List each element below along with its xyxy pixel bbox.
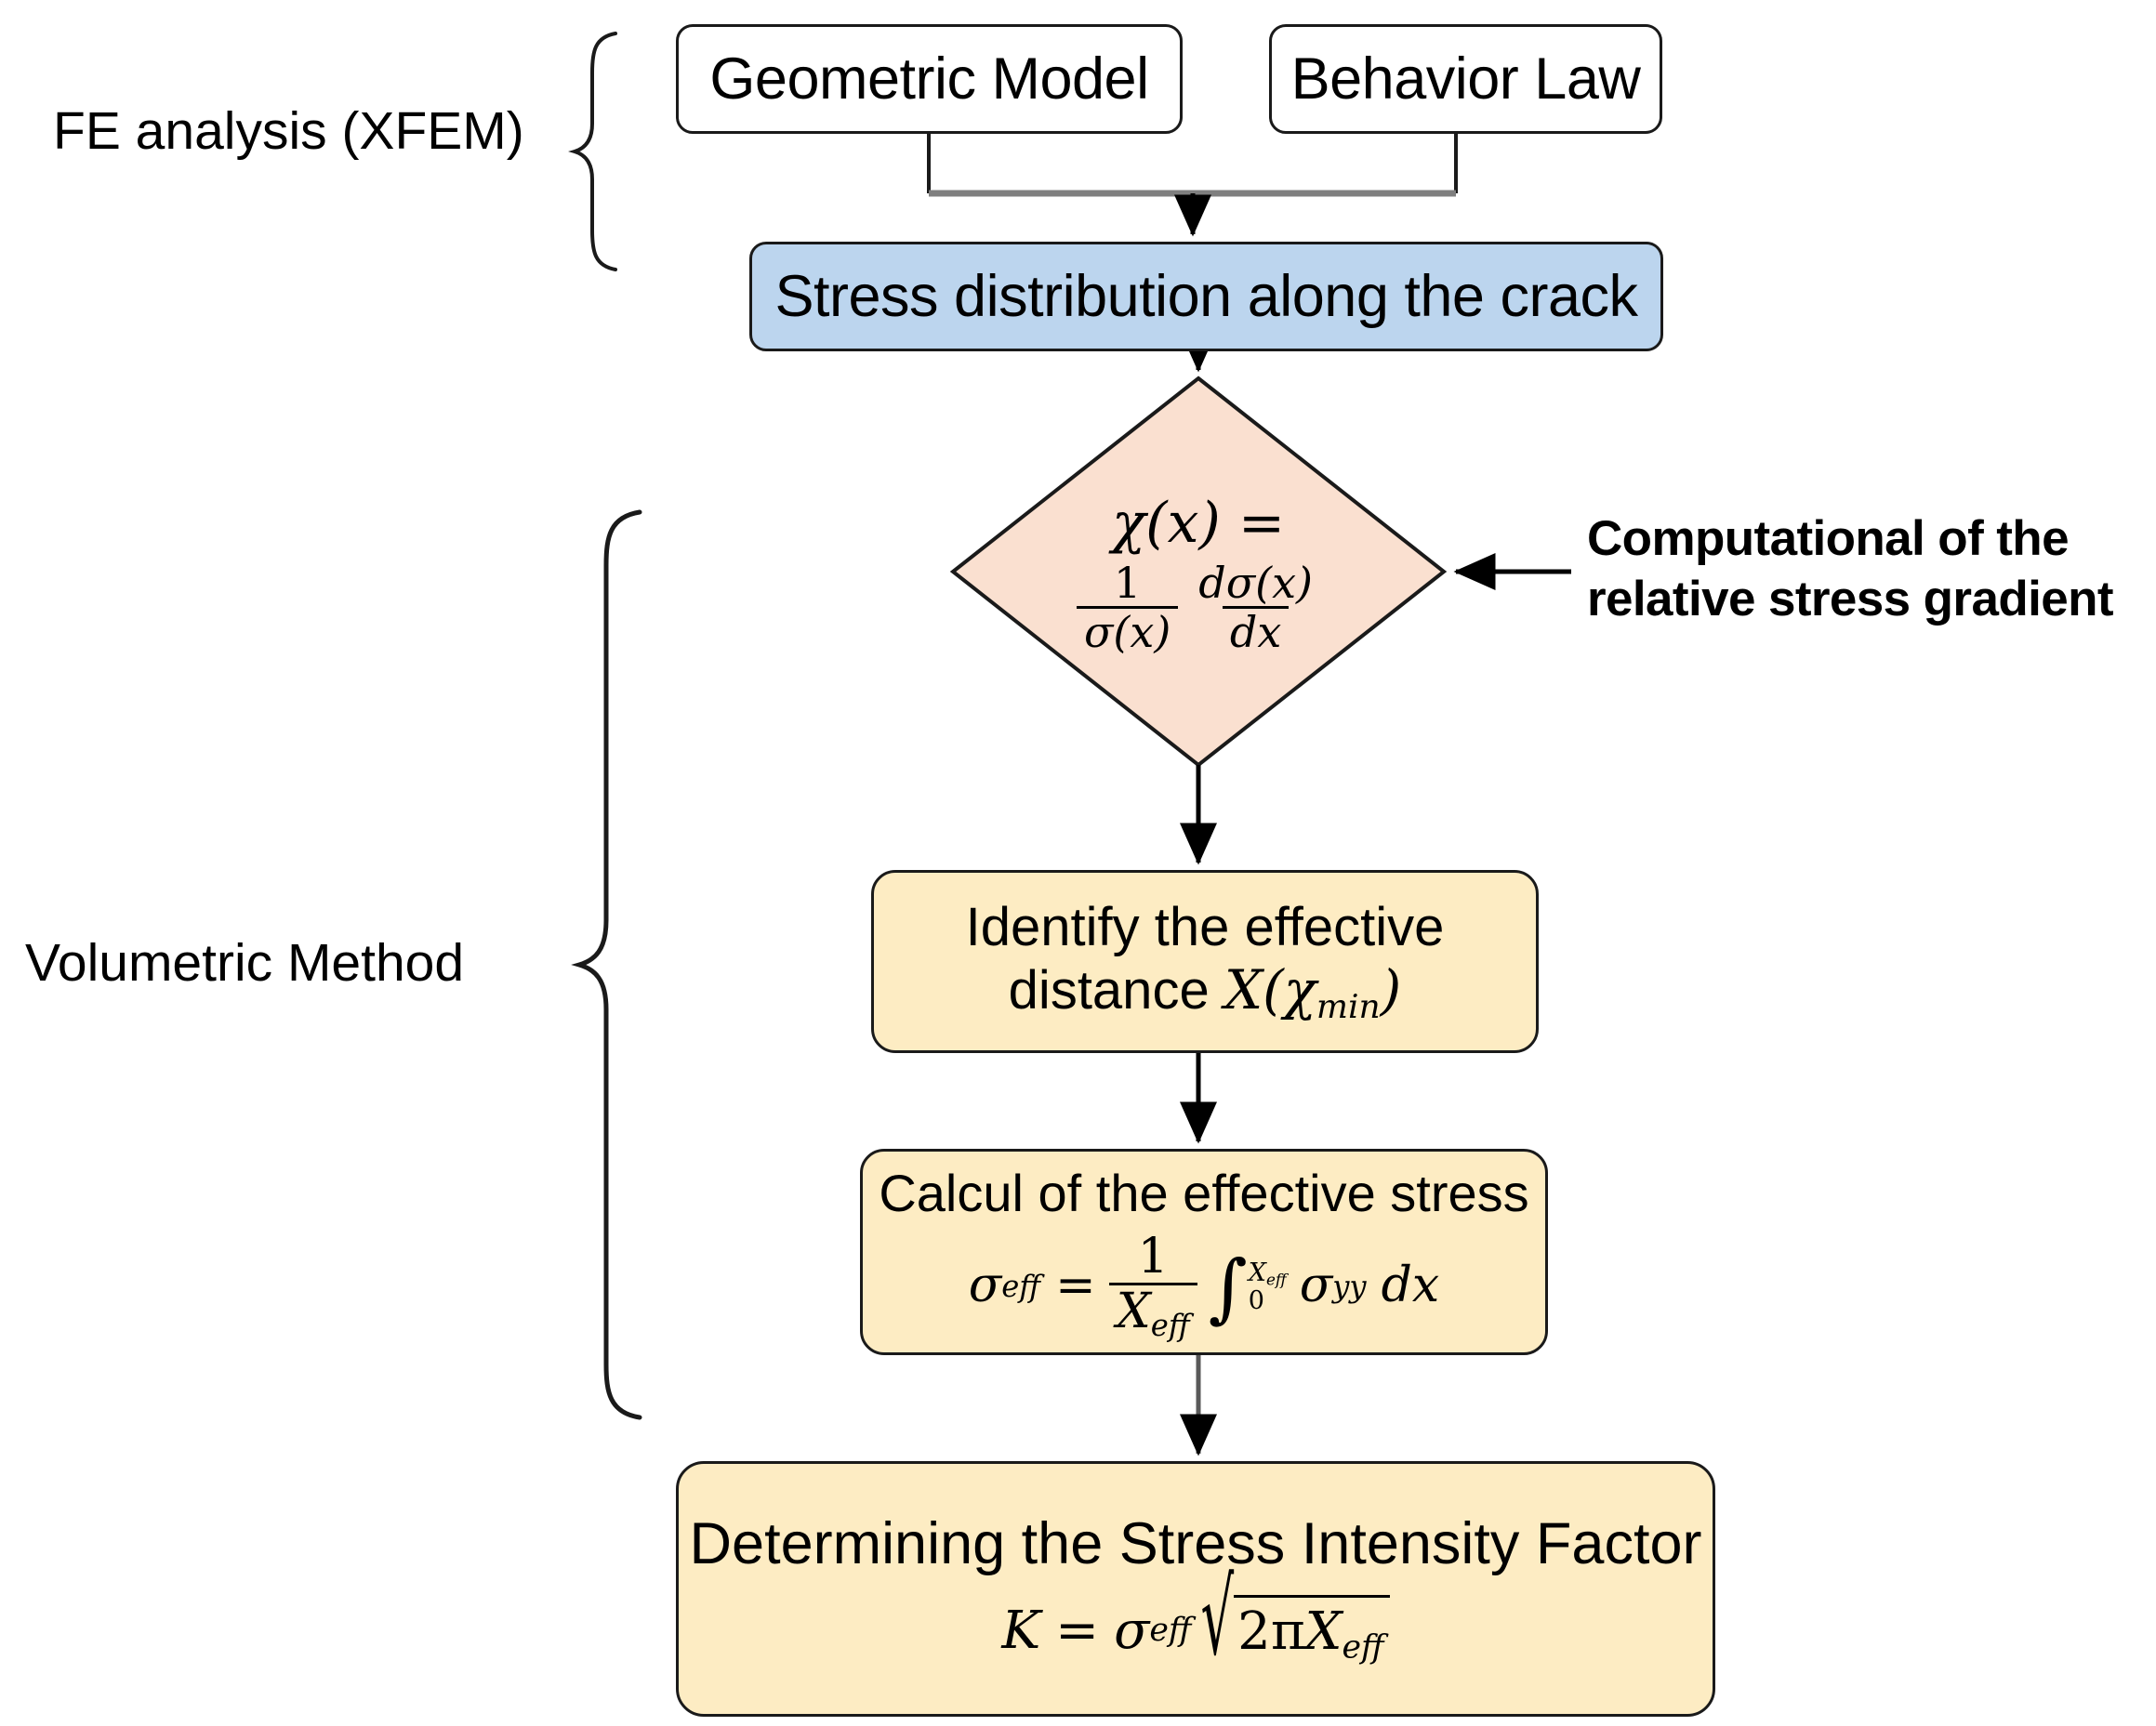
node-identify-line1: Identify the effective xyxy=(966,897,1445,959)
sif-sigma-sub: eff xyxy=(1149,1613,1191,1650)
node-determine-sif-title: Determining the Stress Intensity Factor xyxy=(690,1510,1702,1577)
decision-frac2-den: dx xyxy=(1223,606,1289,653)
decision-equation-rhs: 1 σ(x) dσ(x) dx xyxy=(1077,561,1320,653)
sif-radicand-two: 2 xyxy=(1237,1601,1271,1662)
node-identify-line2-prefix: distance xyxy=(1009,960,1224,1021)
node-stress-distribution[interactable]: Stress distribution along the crack xyxy=(749,242,1663,351)
node-identify-chi: χ xyxy=(1284,958,1316,1021)
calcul-sigma: σ xyxy=(969,1258,1002,1314)
calcul-frac-den: Xeff xyxy=(1109,1283,1197,1340)
calcul-frac-den-sub: eff xyxy=(1151,1308,1190,1343)
decision-frac-one-over-sigma: 1 σ(x) xyxy=(1077,561,1178,653)
decision-frac1-num: 1 xyxy=(1106,561,1148,606)
node-identify-line2: distance X(χmin) xyxy=(1009,959,1402,1026)
calcul-int-upper-base: X xyxy=(1249,1258,1266,1287)
sif-radicand-pi: π xyxy=(1271,1601,1305,1662)
annotation-computational-gradient: Computational of the relative stress gra… xyxy=(1587,509,2145,629)
calcul-int-upper: Xeff xyxy=(1249,1260,1287,1287)
node-identify-X: X xyxy=(1224,958,1263,1021)
calcul-frac-num: 1 xyxy=(1131,1232,1176,1283)
calcul-frac-one-over-xeff: 1 Xeff xyxy=(1109,1232,1197,1340)
label-fe-analysis: FE analysis (XFEM) xyxy=(53,100,524,162)
decision-frac-dsigma-dx: dσ(x) dx xyxy=(1191,561,1320,653)
node-behavior-law[interactable]: Behavior Law xyxy=(1269,24,1662,134)
calcul-int-upper-sub: eff xyxy=(1266,1270,1287,1288)
sif-sqrt: √ 2πXeff xyxy=(1200,1595,1389,1667)
flowchart-canvas: FE analysis (XFEM) Volumetric Method Com… xyxy=(0,0,2156,1726)
sif-radicand-X: X xyxy=(1305,1601,1343,1662)
calcul-integral-sign: ∫ xyxy=(1209,1258,1248,1318)
sif-radicand-sub: eff xyxy=(1343,1629,1384,1667)
calcul-equals: = xyxy=(1055,1258,1096,1314)
calcul-integrand-sub: yy xyxy=(1332,1270,1366,1304)
sif-K: K xyxy=(1001,1601,1040,1661)
calcul-int-lower: 0 xyxy=(1249,1288,1287,1313)
calcul-differential: dx xyxy=(1382,1258,1440,1314)
brace-volumetric-method xyxy=(579,512,640,1417)
node-identify-paren-close: ) xyxy=(1381,958,1402,1021)
calcul-integral-limits: Xeff 0 xyxy=(1248,1260,1287,1313)
annotation-line-2: relative stress gradient xyxy=(1587,570,2145,630)
decision-frac2-num: dσ(x) xyxy=(1191,561,1320,606)
node-determine-sif[interactable]: Determining the Stress Intensity Factor … xyxy=(676,1461,1715,1717)
node-stress-distribution-label: Stress distribution along the crack xyxy=(775,263,1638,330)
node-identify-distance[interactable]: Identify the effective distance X(χmin) xyxy=(871,870,1539,1053)
brace-fe-analysis xyxy=(575,33,615,270)
decision-equation-lhs: χ(x) = xyxy=(1112,491,1285,556)
node-behavior-law-label: Behavior Law xyxy=(1291,46,1641,112)
annotation-line-1: Computational of the xyxy=(1587,509,2145,570)
calcul-integrand-sigma: σ xyxy=(1300,1258,1333,1314)
label-volumetric-method: Volumetric Method xyxy=(25,932,464,994)
node-calcul-effective-stress[interactable]: Calcul of the effective stress σeff = 1 … xyxy=(860,1149,1548,1355)
calcul-sigma-sub: eff xyxy=(1001,1270,1040,1304)
sif-sigma: σ xyxy=(1114,1601,1149,1661)
node-identify-chi-sub: min xyxy=(1316,988,1381,1026)
node-decision-chi[interactable]: χ(x) = 1 σ(x) dσ(x) dx xyxy=(951,376,1446,767)
sif-sqrt-sign: √ xyxy=(1200,1561,1234,1705)
node-determine-sif-equation: K = σeff √ 2πXeff xyxy=(1001,1595,1389,1667)
node-calcul-equation: σeff = 1 Xeff ∫ Xeff 0 σyy dx xyxy=(969,1232,1440,1340)
node-identify-paren-open: ( xyxy=(1263,958,1284,1021)
node-geometric-model-label: Geometric Model xyxy=(709,46,1148,112)
sif-radicand: 2πXeff xyxy=(1234,1595,1389,1667)
decision-equation: χ(x) = 1 σ(x) dσ(x) dx xyxy=(951,376,1446,767)
sif-equals: = xyxy=(1055,1601,1099,1661)
calcul-frac-den-base: X xyxy=(1117,1284,1151,1339)
decision-frac1-den: σ(x) xyxy=(1077,606,1178,653)
node-geometric-model[interactable]: Geometric Model xyxy=(676,24,1183,134)
node-calcul-title: Calcul of the effective stress xyxy=(879,1164,1528,1223)
